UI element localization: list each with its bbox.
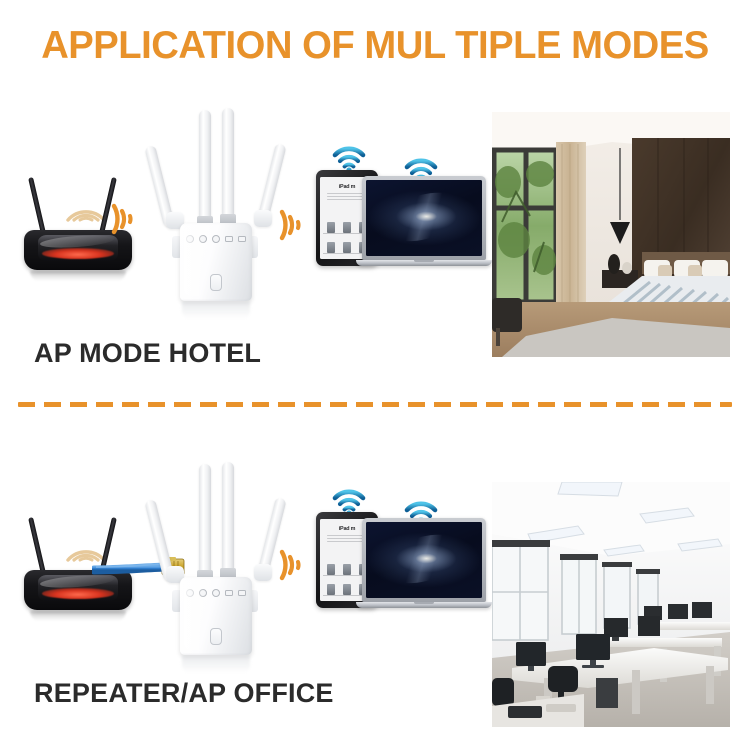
client-devices-group: iPad m: [312, 136, 492, 286]
router-indicator-glow: [42, 248, 114, 259]
laptop-lid: [362, 176, 486, 260]
lan-led-icon: [225, 236, 233, 242]
wps-led-icon: [212, 589, 220, 597]
laptop-screen: [366, 522, 482, 598]
extender-led-row: [186, 234, 246, 243]
client-devices-group: iPad m: [312, 478, 492, 628]
wan-led-icon: [238, 590, 246, 596]
extender-antenna-center-left: [199, 464, 211, 576]
extender-body: [180, 577, 252, 655]
router-reflection: [30, 271, 126, 281]
office-interior-photo: [492, 482, 730, 727]
wifi-led-icon: [199, 235, 207, 243]
extender-body: [180, 223, 252, 301]
extender-antenna-center-right: [222, 108, 234, 222]
extender-antenna-mount-right: [254, 210, 272, 227]
page-title: APPLICATION OF MUL TIPLE MODES: [8, 24, 743, 68]
laptop-device: [356, 176, 492, 276]
signal-arcs-router-to-extender: [108, 190, 154, 248]
extender-antenna-center-right: [222, 462, 234, 576]
laptop-latch: [414, 602, 434, 604]
wifi-led-icon: [199, 589, 207, 597]
infographic-page: APPLICATION OF MUL TIPLE MODES: [0, 0, 750, 750]
hotel-room-photo: [492, 112, 730, 357]
power-led-icon: [186, 589, 194, 597]
extender-led-row: [186, 588, 246, 597]
extender-wps-button[interactable]: [210, 274, 222, 291]
router-indicator-glow: [42, 588, 114, 599]
router-reflection: [30, 611, 126, 621]
extender-reflection: [182, 655, 250, 673]
wan-led-icon: [238, 236, 246, 242]
laptop-device: [356, 518, 492, 618]
laptop-latch: [414, 260, 434, 262]
mode-label-office: REPEATER/AP OFFICE: [34, 678, 334, 709]
laptop-screen: [366, 180, 482, 256]
extender-reflection: [182, 301, 250, 319]
extender-antenna-center-left: [199, 110, 211, 222]
lan-led-icon: [225, 590, 233, 596]
extender-wps-button[interactable]: [210, 628, 222, 645]
wps-led-icon: [212, 235, 220, 243]
section-divider: [18, 402, 732, 407]
extender-antenna-mount-right: [254, 564, 272, 581]
laptop-lid: [362, 518, 486, 602]
mode-label-hotel: AP MODE HOTEL: [34, 338, 261, 369]
power-led-icon: [186, 235, 194, 243]
